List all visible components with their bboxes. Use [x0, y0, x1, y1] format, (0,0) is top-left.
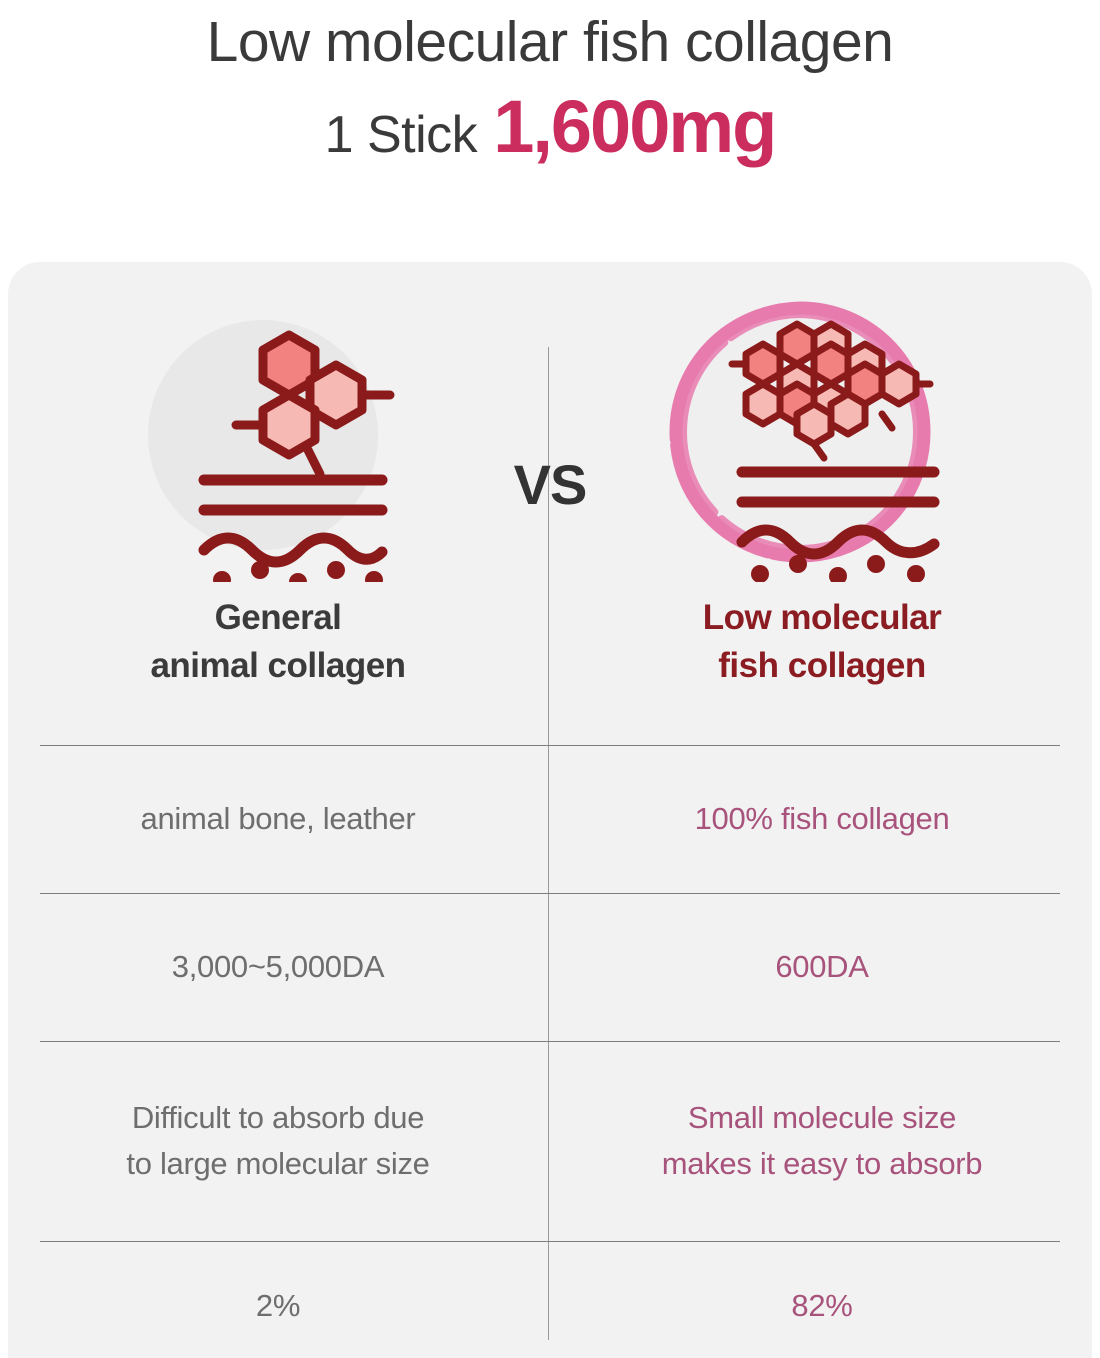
- vs-label: VS: [498, 452, 602, 517]
- table-row: animal bone, leather 100% fish collagen: [8, 745, 1092, 893]
- cell-line1: 100% fish collagen: [570, 796, 1074, 842]
- product-comparison-infographic: Low molecular fish collagen 1 Stick 1,60…: [0, 0, 1100, 1358]
- large-molecule-skin-icon: [8, 262, 548, 582]
- cell-line1: 600DA: [570, 944, 1074, 990]
- table-row: 3,000~5,000DA 600DA: [8, 893, 1092, 1041]
- column-title-line2: animal collagen: [8, 642, 548, 690]
- row-cell-right: 600DA: [552, 944, 1092, 990]
- left-icon-cell: [8, 262, 548, 582]
- comparison-panel: VS General animal collagen Low molecular…: [8, 262, 1092, 1358]
- stick-label: 1 Stick: [325, 96, 478, 174]
- cell-line1: Difficult to absorb due: [26, 1095, 530, 1141]
- cell-line2: to large molecular size: [26, 1141, 530, 1187]
- row-cell-right: 82%: [552, 1283, 1092, 1329]
- cell-line2: makes it easy to absorb: [570, 1141, 1074, 1187]
- column-title-line1: Low molecular: [552, 594, 1092, 642]
- row-cell-right: Small molecule size makes it easy to abs…: [552, 1095, 1092, 1187]
- cell-line1: 82%: [570, 1283, 1074, 1329]
- icons-row: VS: [8, 262, 1092, 582]
- column-title-line1: General: [8, 594, 548, 642]
- small-molecule-skin-icon: [552, 262, 1092, 582]
- column-title-low-molecular-fish-collagen: Low molecular fish collagen: [552, 594, 1092, 690]
- table-row: 2% 82%: [8, 1241, 1092, 1358]
- comparison-rows: animal bone, leather 100% fish collagen …: [8, 745, 1092, 1358]
- column-title-line2: fish collagen: [552, 642, 1092, 690]
- row-cell-left: 3,000~5,000DA: [8, 944, 548, 990]
- page-title: Low molecular fish collagen 1 Stick 1,60…: [0, 6, 1100, 174]
- column-title-general-animal-collagen: General animal collagen: [8, 594, 548, 690]
- headline-secondary: 1 Stick 1,600mg: [0, 88, 1100, 174]
- cell-line1: animal bone, leather: [26, 796, 530, 842]
- cell-line1: Small molecule size: [570, 1095, 1074, 1141]
- cell-line1: 3,000~5,000DA: [26, 944, 530, 990]
- cell-line1: 2%: [26, 1283, 530, 1329]
- column-titles-row: General animal collagen Low molecular fi…: [8, 594, 1092, 744]
- amount-label: 1,600mg: [493, 88, 775, 166]
- table-row: Difficult to absorb due to large molecul…: [8, 1041, 1092, 1241]
- row-cell-left: 2%: [8, 1283, 548, 1329]
- headline-primary: Low molecular fish collagen: [0, 6, 1100, 78]
- row-cell-left: animal bone, leather: [8, 796, 548, 842]
- row-cell-left: Difficult to absorb due to large molecul…: [8, 1095, 548, 1187]
- row-cell-right: 100% fish collagen: [552, 796, 1092, 842]
- right-icon-cell: [552, 262, 1092, 582]
